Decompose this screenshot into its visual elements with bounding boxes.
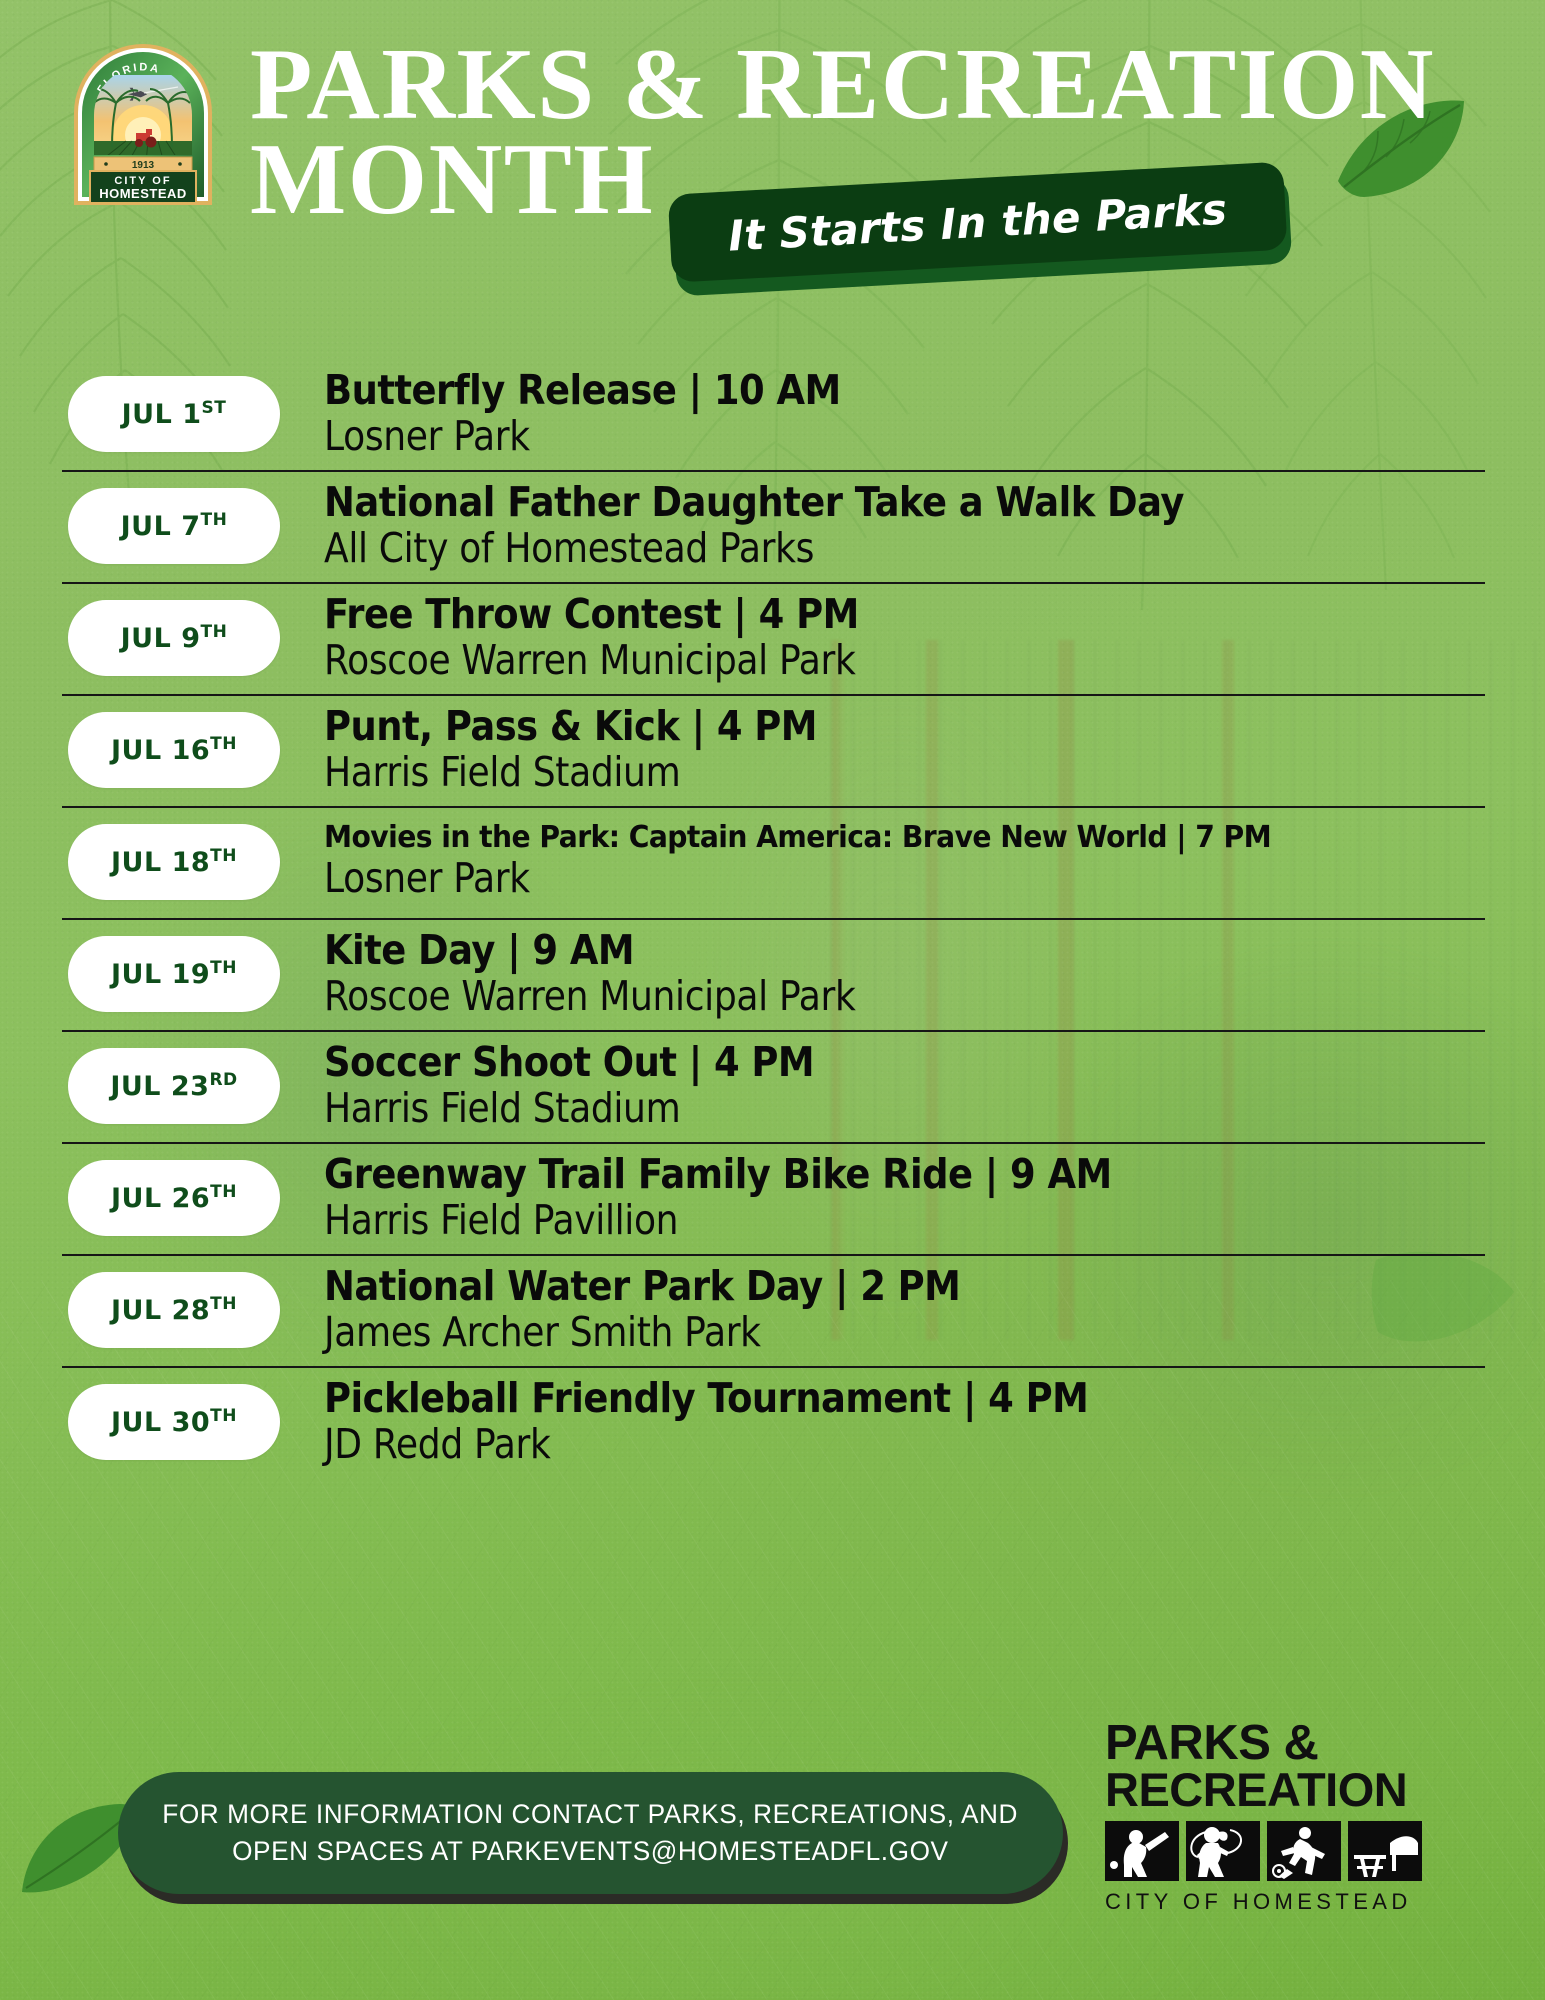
event-venue: All City of Homestead Parks [324,526,1165,572]
event-copy: Soccer Shoot Out | 4 PM Harris Field Sta… [324,1041,869,1132]
date-label: JUL 16 [111,735,210,766]
event-title: Butterfly Release | 10 AM [324,369,841,412]
event-venue: JD Redd Park [324,1422,1071,1468]
date-badge: JUL 7TH [68,488,280,564]
date-label: JUL 23 [110,1071,209,1102]
date-ordinal: TH [201,622,228,642]
date-ordinal: TH [210,1406,237,1426]
soccer-runner-icon [1267,1821,1341,1881]
date-badge: JUL 23RD [68,1048,280,1124]
contact-banner: FOR MORE INFORMATION CONTACT PARKS, RECR… [118,1772,1068,1904]
date-badge: JUL 30TH [68,1384,280,1460]
baseball-batter-icon [1105,1821,1179,1881]
event-title: National Father Daughter Take a Walk Day [324,481,1184,524]
event-copy: Kite Day | 9 AM Roscoe Warren Municipal … [324,929,928,1020]
date-ordinal: TH [210,1294,237,1314]
event-copy: Punt, Pass & Kick | 4 PM Harris Field St… [324,705,872,796]
date-badge: JUL 18TH [68,824,280,900]
date-label: JUL 28 [111,1295,210,1326]
event-venue: Losner Park [324,856,1211,902]
list-item[interactable]: JUL 7TH National Father Daughter Take a … [0,470,1545,582]
date-badge: JUL 26TH [68,1160,280,1236]
event-title: Free Throw Contest | 4 PM [324,593,868,636]
list-item[interactable]: JUL 26TH Greenway Trail Family Bike Ride… [0,1142,1545,1254]
event-title: Movies in the Park: Captain America: Bra… [324,822,1271,854]
logo-line-3: CITY OF HOMESTEAD [1105,1889,1435,1915]
event-title: Greenway Trail Family Bike Ride | 9 AM [324,1153,1112,1196]
event-title: Punt, Pass & Kick | 4 PM [324,705,817,748]
event-copy: Free Throw Contest | 4 PM Roscoe Warren … [324,593,928,684]
svg-text:1913: 1913 [132,160,155,171]
picnic-table-icon [1348,1821,1422,1881]
date-label: JUL 19 [111,959,210,990]
event-copy: National Father Daughter Take a Walk Day… [324,481,1279,572]
svg-text:HOMESTEAD: HOMESTEAD [99,186,187,201]
event-venue: Roscoe Warren Municipal Park [324,974,856,1020]
event-title: Kite Day | 9 AM [324,929,868,972]
list-item[interactable]: JUL 23RD Soccer Shoot Out | 4 PM Harris … [0,1030,1545,1142]
date-ordinal: TH [210,958,237,978]
date-label: JUL 9 [121,623,201,654]
event-title: National Water Park Day | 2 PM [324,1265,960,1308]
date-ordinal: TH [210,734,237,754]
event-title: Pickleball Friendly Tournament | 4 PM [324,1377,1088,1420]
list-item[interactable]: JUL 16TH Punt, Pass & Kick | 4 PM Harris… [0,694,1545,806]
date-badge: JUL 28TH [68,1272,280,1348]
date-badge: JUL 1ST [68,376,280,452]
list-item[interactable]: JUL 9TH Free Throw Contest | 4 PM Roscoe… [0,582,1545,694]
event-copy: Pickleball Friendly Tournament | 4 PM JD… [324,1377,1173,1468]
event-venue: Roscoe Warren Municipal Park [324,638,856,684]
logo-line-2: RECREATION [1105,1767,1435,1812]
event-title: Soccer Shoot Out | 4 PM [324,1041,814,1084]
event-venue: James Archer Smith Park [324,1310,946,1356]
logo-line-1: PARKS & [1105,1720,1435,1767]
date-label: JUL 26 [111,1183,210,1214]
event-venue: Harris Field Pavillion [324,1198,1094,1244]
list-item[interactable]: JUL 18TH Movies in the Park: Captain Ame… [0,806,1545,918]
date-badge: JUL 16TH [68,712,280,788]
date-ordinal: RD [209,1070,237,1090]
parks-recreation-logo: PARKS & RECREATION [1105,1720,1435,1935]
event-venue: Losner Park [324,414,829,460]
list-item[interactable]: JUL 30TH Pickleball Friendly Tournament … [0,1366,1545,1478]
event-copy: Movies in the Park: Captain America: Bra… [324,822,1332,901]
date-badge: JUL 19TH [68,936,280,1012]
event-venue: Harris Field Stadium [324,750,806,796]
poster-canvas: FLORIDA [0,0,1545,2000]
poster-header: FLORIDA [0,0,1545,330]
jump-rope-girl-icon [1186,1821,1260,1881]
logo-icon-tiles [1105,1821,1435,1881]
contact-line-1: FOR MORE INFORMATION CONTACT PARKS, RECR… [163,1799,1019,1830]
event-venue: Harris Field Stadium [324,1086,803,1132]
date-ordinal: TH [201,510,228,530]
date-ordinal: TH [210,1182,237,1202]
list-item[interactable]: JUL 1ST Butterfly Release | 10 AM Losner… [0,358,1545,470]
date-ordinal: ST [202,398,227,418]
event-copy: National Water Park Day | 2 PM James Arc… [324,1265,1031,1356]
date-label: JUL 7 [121,511,201,542]
date-ordinal: TH [210,846,237,866]
list-item[interactable]: JUL 28TH National Water Park Day | 2 PM … [0,1254,1545,1366]
list-item[interactable]: JUL 19TH Kite Day | 9 AM Roscoe Warren M… [0,918,1545,1030]
date-label: JUL 18 [111,847,210,878]
date-badge: JUL 9TH [68,600,280,676]
contact-line-2: OPEN SPACES AT PARKEVENTS@HOMESTEADFL.GO… [232,1836,949,1867]
date-label: JUL 30 [111,1407,210,1438]
date-label: JUL 1 [122,399,202,430]
event-copy: Butterfly Release | 10 AM Losner Park [324,369,898,460]
event-copy: Greenway Trail Family Bike Ride | 9 AM H… [324,1153,1199,1244]
city-of-homestead-seal-icon: FLORIDA [68,35,218,210]
event-list: JUL 1ST Butterfly Release | 10 AM Losner… [0,358,1545,1478]
